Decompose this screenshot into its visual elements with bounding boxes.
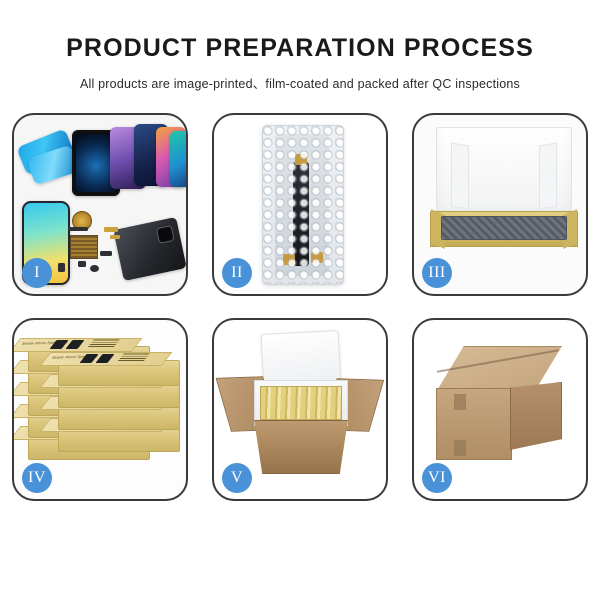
sim-tray-icon <box>58 263 65 272</box>
page-subtitle: All products are image-printed、film-coat… <box>0 73 600 92</box>
step-badge-1: I <box>22 258 52 288</box>
circuit-board-icon <box>70 235 98 259</box>
flex-cable-icon <box>293 162 309 266</box>
step-badge-2: II <box>222 258 252 288</box>
step-badge-3: III <box>422 258 452 288</box>
header: PRODUCT PREPARATION PROCESS All products… <box>0 0 600 92</box>
phone-back-cover-icon <box>113 217 186 281</box>
phone-display-teal-icon <box>170 131 186 187</box>
kraft-box-stack: Mobile Phone Spare Parts Mobile Phone Sp… <box>24 338 182 484</box>
product-preparation-infographic: PRODUCT PREPARATION PROCESS All products… <box>0 0 600 600</box>
small-chip-icon <box>100 251 112 256</box>
cable-pad-right-icon <box>311 252 323 263</box>
carton-tape-upper <box>454 394 466 410</box>
process-row-bottom: Mobile Phone Spare Parts Mobile Phone Sp… <box>12 318 588 501</box>
kraft-boxes-inside <box>260 386 342 420</box>
process-step-6[interactable]: VI <box>412 318 588 501</box>
process-step-2[interactable]: II <box>212 113 388 296</box>
bubble-wrap-bag <box>262 125 344 285</box>
ribbon-chip-icon <box>68 227 88 231</box>
process-step-grid: I II <box>12 113 588 501</box>
gold-flex-2-icon <box>110 235 120 239</box>
process-step-4[interactable]: Mobile Phone Spare Parts Mobile Phone Sp… <box>12 318 188 501</box>
carton-front-face <box>436 388 512 460</box>
outer-carton-body <box>250 420 352 474</box>
camera-module-icon <box>90 265 99 272</box>
white-box-lid <box>436 127 572 219</box>
kraft-box-tray <box>430 211 578 247</box>
step-badge-5: V <box>222 463 252 493</box>
cable-pad-left-icon <box>283 254 295 265</box>
step-badge-4: IV <box>22 463 52 493</box>
step-badge-6: VI <box>422 463 452 493</box>
gray-foam-padding <box>441 216 567 240</box>
lid-tab-right <box>539 142 557 209</box>
carton-tape-lower <box>454 440 466 456</box>
process-step-3[interactable]: III <box>412 113 588 296</box>
kraft-box-right-top: Mobile Phone Spare Parts <box>58 360 180 386</box>
lid-tab-left <box>451 142 469 209</box>
gold-flex-icon <box>104 227 118 232</box>
process-step-5[interactable]: V <box>212 318 388 501</box>
cable-pad-top-icon <box>295 154 307 165</box>
process-row-top: I II <box>12 113 588 296</box>
process-step-1[interactable]: I <box>12 113 188 296</box>
connector-chip-icon <box>78 261 86 267</box>
carton-side-face <box>510 382 562 450</box>
page-title: PRODUCT PREPARATION PROCESS <box>0 36 600 61</box>
